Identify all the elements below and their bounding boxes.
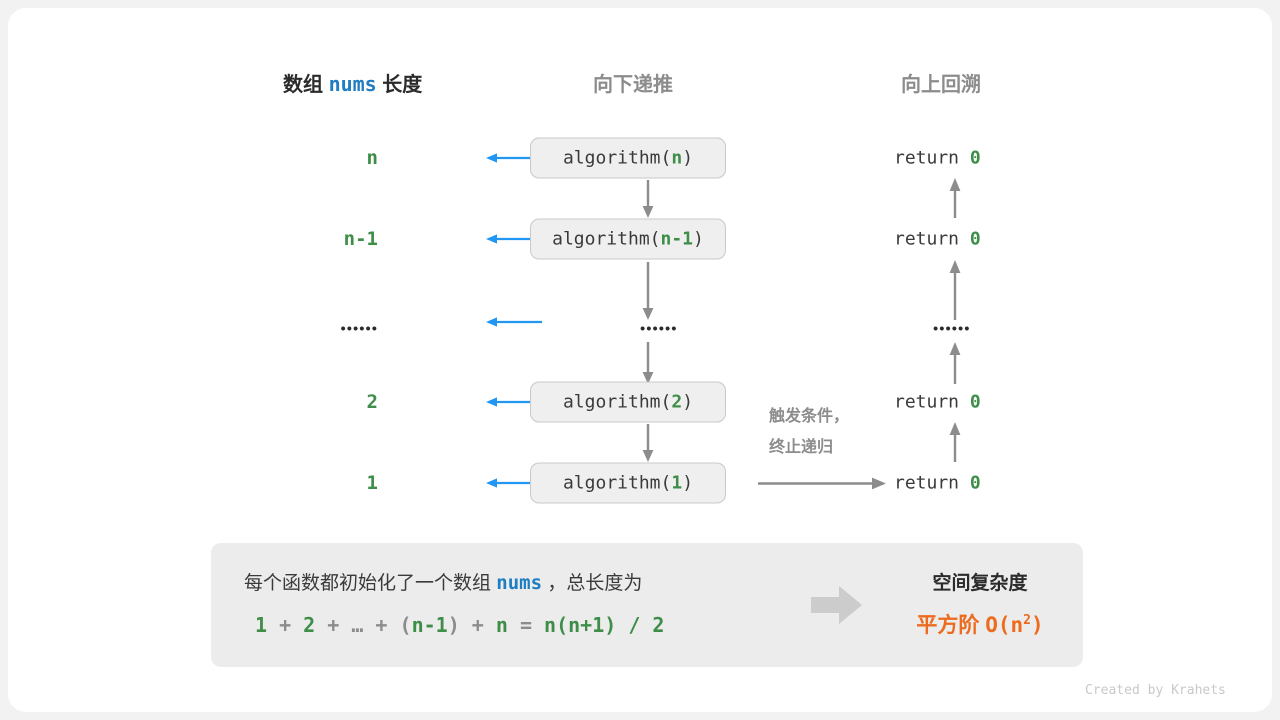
call-box-row-1[interactable]: algorithm(n): [530, 138, 726, 179]
call-box-row-1-suffix: ): [682, 148, 693, 169]
summary-description-suffix: ，总长度为: [542, 573, 642, 594]
blue-arrow-row-3: [486, 316, 542, 328]
return-label-row-5: return 0: [894, 473, 981, 494]
call-box-row-5-suffix: ): [682, 473, 693, 494]
trigger-note-line2: 终止递归: [769, 432, 849, 463]
formula-part-13: /: [616, 613, 652, 637]
complexity-value: 平方阶 O(n2): [877, 609, 1083, 639]
base-case-return-arrow: [758, 477, 886, 490]
call-box-row-4-arg: 2: [671, 392, 682, 413]
return-label-row-5-text: return: [894, 473, 970, 494]
header-array-length: 数组 nums 长度: [283, 68, 422, 97]
call-box-row-3-ellipsis: ••••••: [640, 321, 678, 338]
length-label-row-5: 1: [367, 472, 378, 494]
header-array-length-suffix: 长度: [377, 74, 423, 96]
header-array-length-keyword: nums: [329, 72, 377, 96]
formula-part-11: =: [508, 613, 544, 637]
formula-part-10: n: [496, 613, 508, 637]
summary-description: 每个函数都初始化了一个数组 nums ，总长度为: [244, 568, 642, 595]
call-box-row-2-arg: n-1: [661, 229, 694, 250]
return-label-row-2-text: return: [894, 229, 970, 250]
formula-part-1: +: [267, 613, 303, 637]
up-arrow-5-to-4: [947, 422, 963, 462]
call-box-row-5-arg: 1: [671, 473, 682, 494]
formula-part-0: 1: [255, 613, 267, 637]
header-array-length-prefix: 数组: [283, 74, 329, 96]
call-box-row-2-suffix: ): [693, 229, 704, 250]
down-arrow-1-to-2: [640, 180, 656, 218]
right-arrow-icon: [811, 586, 862, 624]
formula-part-2: 2: [303, 613, 315, 637]
formula-part-6: (: [400, 613, 412, 637]
call-box-row-4-prefix: algorithm(: [563, 392, 671, 413]
length-label-row-2: n-1: [344, 228, 378, 250]
complexity-value-tail: ): [1031, 613, 1044, 637]
return-label-row-1-text: return: [894, 148, 970, 169]
summary-description-keyword: nums: [496, 572, 542, 594]
complexity-value-exponent: 2: [1023, 613, 1031, 628]
return-label-row-5-value: 0: [970, 473, 981, 494]
up-arrow-4-to-3: [947, 342, 963, 384]
up-arrow-3-to-2: [947, 260, 963, 320]
credit-text: Created by Krahets: [1085, 683, 1226, 698]
call-box-row-2[interactable]: algorithm(n-1): [530, 219, 726, 260]
call-box-row-1-arg: n: [671, 148, 682, 169]
return-label-row-4-value: 0: [970, 392, 981, 413]
up-arrow-2-to-1: [947, 178, 963, 218]
return-label-row-4: return 0: [894, 392, 981, 413]
formula-part-4: …: [351, 613, 363, 637]
down-arrow-2-to-3: [640, 262, 656, 320]
call-box-row-5[interactable]: algorithm(1): [530, 463, 726, 504]
formula-part-8: ): [448, 613, 460, 637]
summary-formula: 1 + 2 + … + (n-1) + n = n(n+1) / 2: [255, 613, 664, 637]
summary-description-prefix: 每个函数都初始化了一个数组: [244, 573, 496, 594]
formula-part-3: +: [315, 613, 351, 637]
diagram-card: 数组 nums 长度 向下递推 向上回溯 n algorithm(n) retu…: [8, 8, 1272, 712]
down-arrow-4-to-5: [640, 424, 656, 462]
down-arrow-3-to-4: [640, 342, 656, 384]
call-box-row-1-prefix: algorithm(: [563, 148, 671, 169]
complexity-value-base: O(n: [985, 613, 1023, 637]
length-label-row-3-ellipsis: ••••••: [340, 321, 378, 338]
return-label-row-3-ellipsis: ••••••: [933, 321, 971, 338]
return-label-row-1-value: 0: [970, 148, 981, 169]
call-box-row-4[interactable]: algorithm(2): [530, 382, 726, 423]
summary-complexity: 空间复杂度 平方阶 O(n2): [877, 543, 1083, 639]
return-label-row-2-value: 0: [970, 229, 981, 250]
formula-part-14: 2: [652, 613, 664, 637]
length-label-row-1: n: [367, 147, 378, 169]
header-recursion-down: 向下递推: [593, 68, 673, 97]
formula-part-5: +: [363, 613, 399, 637]
length-label-row-4: 2: [367, 391, 378, 413]
complexity-title: 空间复杂度: [877, 568, 1083, 595]
trigger-note: 触发条件， 终止递归: [769, 401, 849, 463]
summary-panel: 每个函数都初始化了一个数组 nums ，总长度为 1 + 2 + … + (n-…: [211, 543, 1083, 667]
return-label-row-2: return 0: [894, 229, 981, 250]
formula-part-12: n(n+1): [544, 613, 616, 637]
formula-part-9: +: [460, 613, 496, 637]
complexity-value-label: 平方阶: [916, 614, 985, 637]
trigger-note-line1: 触发条件，: [769, 401, 849, 432]
call-box-row-5-prefix: algorithm(: [563, 473, 671, 494]
formula-part-7: n-1: [412, 613, 448, 637]
call-box-row-2-prefix: algorithm(: [552, 229, 660, 250]
header-backtrack-up: 向上回溯: [901, 68, 981, 97]
call-box-row-4-suffix: ): [682, 392, 693, 413]
return-label-row-4-text: return: [894, 392, 970, 413]
return-label-row-1: return 0: [894, 148, 981, 169]
